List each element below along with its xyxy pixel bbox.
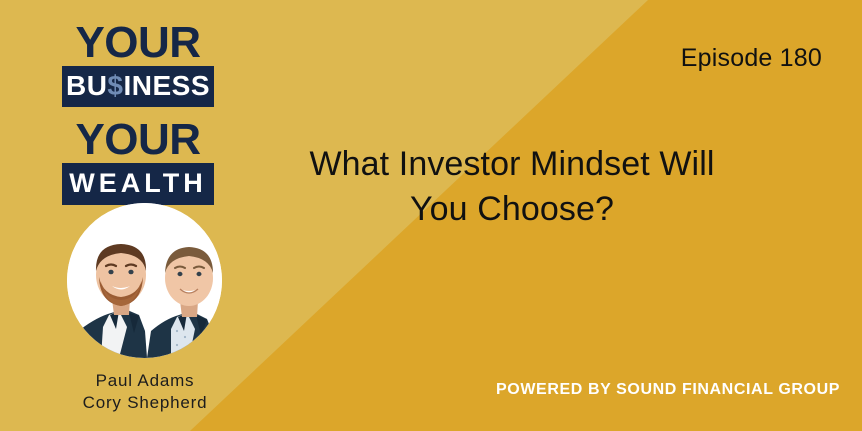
host-name-1: Paul Adams bbox=[40, 370, 250, 392]
episode-number: Episode 180 bbox=[681, 44, 822, 73]
logo-word-your-top: YOUR bbox=[62, 22, 214, 64]
host-name-2: Cory Shepherd bbox=[40, 392, 250, 414]
powered-by-footer: POWERED BY SOUND FINANCIAL GROUP bbox=[496, 381, 840, 399]
podcast-episode-cover: YOUR BU$INESS YOUR WEALTH bbox=[0, 0, 862, 431]
episode-title-line-2: You Choose? bbox=[262, 187, 762, 232]
logo-bar-wealth: WEALTH bbox=[62, 163, 214, 205]
host-portrait-photo bbox=[67, 203, 222, 358]
episode-title: What Investor Mindset Will You Choose? bbox=[262, 142, 762, 232]
logo-business-after: INESS bbox=[124, 70, 211, 101]
host-names: Paul Adams Cory Shepherd bbox=[40, 370, 250, 414]
dollar-sign-icon: $ bbox=[107, 70, 123, 101]
episode-title-line-1: What Investor Mindset Will bbox=[262, 142, 762, 187]
show-logo: YOUR BU$INESS YOUR WEALTH bbox=[62, 22, 214, 205]
host-portrait-illustration bbox=[67, 203, 222, 358]
logo-bar-business: BU$INESS bbox=[62, 66, 214, 107]
logo-word-your-bottom: YOUR bbox=[62, 119, 214, 161]
logo-business-before: BU bbox=[66, 70, 107, 101]
